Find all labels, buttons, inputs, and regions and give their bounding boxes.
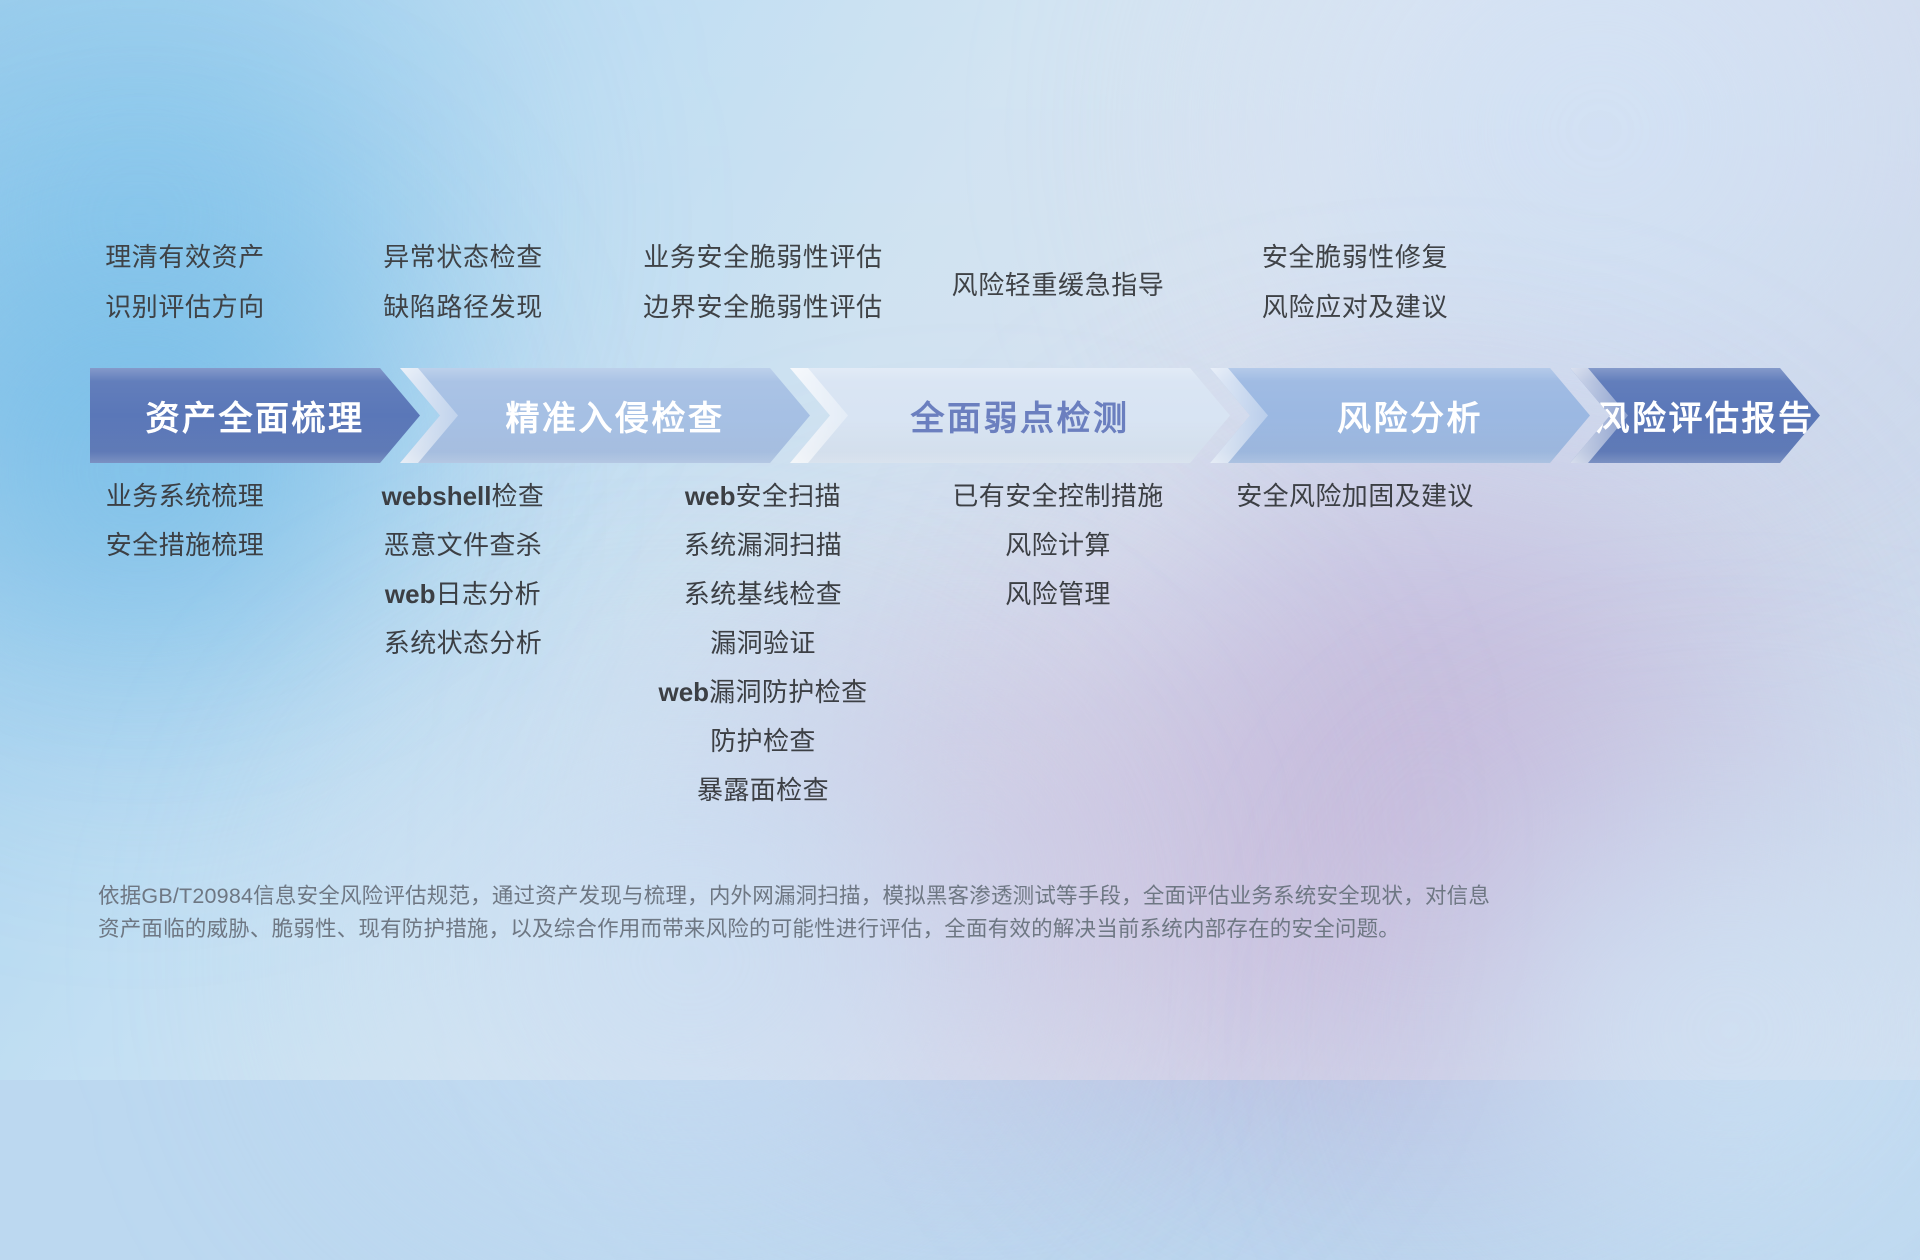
footer-description: 依据GB/T20984信息安全风险评估规范，通过资产发现与梳理，内外网漏洞扫描，… (98, 880, 1628, 946)
chevron-asset-inventory[interactable]: 资产全面梳理 (90, 368, 420, 463)
bottom-label-latin: web (659, 677, 710, 707)
stage-top-labels: 理清有效资产识别评估方向异常状态检查缺陷路径发现业务安全脆弱性评估边界安全脆弱性… (0, 232, 1920, 344)
bottom-label-latin: webshell (382, 481, 492, 511)
bottom-label-latin: web (685, 481, 736, 511)
bottom-label-item: 风险管理 (828, 570, 1288, 619)
bottom-label-item: 暴露面检查 (533, 766, 993, 815)
chevron-title-asset-inventory: 资产全面梳理 (146, 391, 365, 440)
chevron-title-weakness-detection: 全面弱点检测 (911, 391, 1130, 440)
bottom-label-item: 漏洞验证 (533, 619, 993, 668)
process-diagram: 理清有效资产识别评估方向异常状态检查缺陷路径发现业务安全脆弱性评估边界安全脆弱性… (0, 0, 1920, 1080)
top-label-item: 安全脆弱性修复 (1125, 232, 1585, 282)
bottom-label-item: 风险计算 (828, 521, 1288, 570)
top-labels-risk-report: 安全脆弱性修复风险应对及建议 (1125, 232, 1585, 332)
bottom-label-item: 防护检查 (533, 717, 993, 766)
bottom-label-latin: web (385, 579, 436, 609)
chevron-weakness-detection[interactable]: 全面弱点检测 (790, 368, 1230, 463)
chevron-title-risk-analysis: 风险分析 (1337, 391, 1483, 440)
bottom-labels-risk-report: 安全风险加固及建议 (1125, 472, 1585, 521)
footer-line-1: 依据GB/T20984信息安全风险评估规范，通过资产发现与梳理，内外网漏洞扫描，… (98, 880, 1628, 913)
chevron-title-risk-report: 风险评估报告 (1596, 391, 1815, 440)
stage-chevron-strip: 资产全面梳理精准入侵检查全面弱点检测风险分析风险评估报告 (90, 368, 1820, 463)
bottom-label-item: 安全风险加固及建议 (1125, 472, 1585, 521)
chevron-risk-report[interactable]: 风险评估报告 (1570, 368, 1820, 463)
chevron-intrusion-check[interactable]: 精准入侵检查 (400, 368, 810, 463)
chevron-title-intrusion-check: 精准入侵检查 (506, 391, 725, 440)
bottom-label-item: web漏洞防护检查 (533, 668, 993, 717)
footer-line-2: 资产面临的威胁、脆弱性、现有防护措施，以及综合作用而带来风险的可能性进行评估，全… (98, 913, 1628, 946)
top-label-item: 风险应对及建议 (1125, 282, 1585, 332)
